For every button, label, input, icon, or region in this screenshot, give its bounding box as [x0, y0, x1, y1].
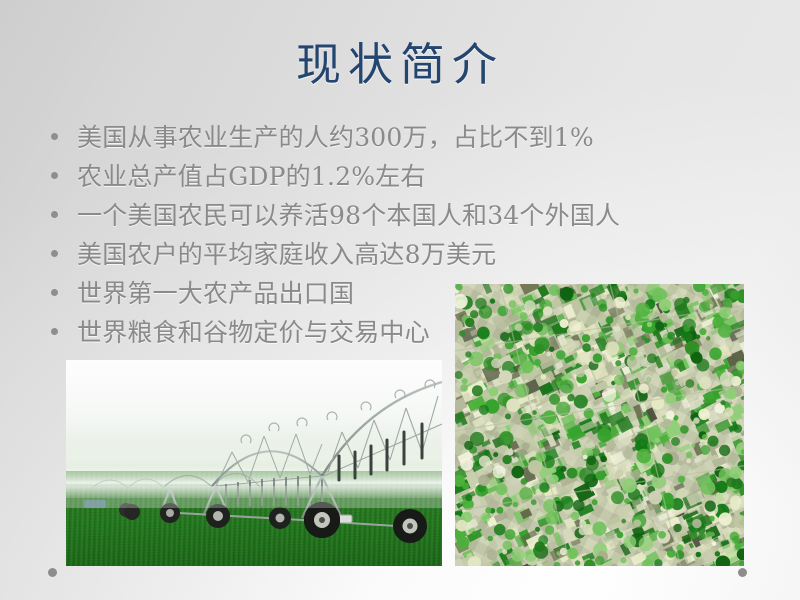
satellite-field-mosaic: [455, 284, 744, 566]
list-item-label: 农业总产值占GDP的1.2%左右: [77, 159, 680, 195]
pivot-machine-illustration: [66, 360, 442, 566]
list-item: 农业总产值占GDP的1.2%左右: [40, 159, 680, 198]
bullet-dot-icon: [49, 211, 60, 218]
page-title: 现状简介: [0, 38, 800, 92]
list-item-label: 美国从事农业生产的人约300万，占比不到1%: [77, 120, 680, 156]
list-item-label: 一个美国农民可以养活98个本国人和34个外国人: [77, 198, 680, 234]
irrigation-photo: [66, 360, 442, 566]
list-item: 美国农户的平均家庭收入高达8万美元: [40, 237, 680, 276]
slide-canvas: 现状简介 美国从事农业生产的人约300万，占比不到1% 农业总产值占GDP的1.…: [0, 0, 800, 600]
bullet-dot-icon: [49, 289, 60, 296]
corner-dot-left-icon: [48, 568, 57, 577]
bullet-dot-icon: [49, 250, 60, 257]
corner-dot-right-icon: [738, 568, 747, 577]
bullet-dot-icon: [49, 328, 60, 335]
satellite-farmland-photo: [455, 284, 744, 566]
list-item: 美国从事农业生产的人约300万，占比不到1%: [40, 120, 680, 159]
list-item: 一个美国农民可以养活98个本国人和34个外国人: [40, 198, 680, 237]
bullet-dot-icon: [49, 172, 60, 179]
bullet-dot-icon: [49, 133, 60, 140]
list-item-label: 美国农户的平均家庭收入高达8万美元: [77, 237, 680, 273]
